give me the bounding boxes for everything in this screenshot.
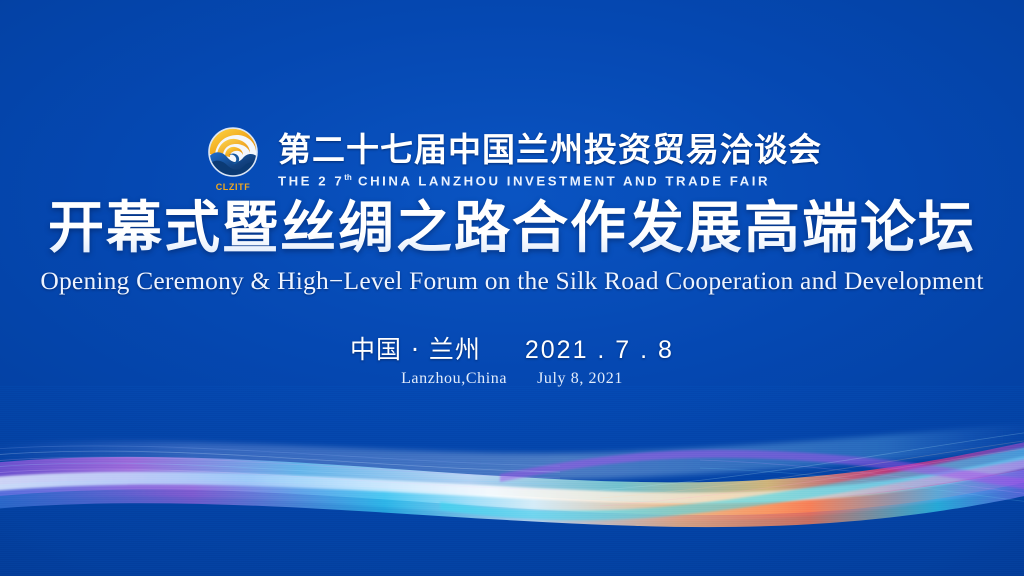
fair-name-cn: 第二十七届中国兰州投资贸易洽谈会 — [278, 132, 822, 168]
emblem-label: CLZITF — [216, 182, 251, 192]
light-ribbon-decoration — [0, 386, 1024, 576]
clzitf-logo-icon: CLZITF — [202, 124, 264, 196]
fair-name-en: THE 2 7th CHINA LANZHOU INVESTMENT AND T… — [278, 173, 770, 188]
poster-stage: CLZITF 第二十七届中国兰州投资贸易洽谈会 THE 2 7th CHINA … — [0, 0, 1024, 576]
main-title-en: Opening Ceremony & High−Level Forum on t… — [0, 266, 1024, 296]
fair-name-block: 第二十七届中国兰州投资贸易洽谈会 THE 2 7th CHINA LANZHOU… — [278, 132, 822, 188]
fair-name-en-ordinal: th — [344, 173, 352, 182]
event-location-cn: 中国 · 兰州 — [350, 330, 481, 366]
event-row-cn: 中国 · 兰州 2021 . 7 . 8 — [350, 330, 674, 366]
main-title-cn: 开幕式暨丝绸之路合作发展高端论坛 — [0, 198, 1024, 260]
fair-name-en-prefix: THE 2 7 — [278, 173, 344, 188]
event-place-date: 中国 · 兰州 2021 . 7 . 8 Lanzhou,China July … — [0, 330, 1024, 388]
fair-name-en-suffix: CHINA LANZHOU INVESTMENT AND TRADE FAIR — [352, 173, 770, 188]
fair-header: CLZITF 第二十七届中国兰州投资贸易洽谈会 THE 2 7th CHINA … — [0, 124, 1024, 196]
event-date-cn: 2021 . 7 . 8 — [525, 336, 674, 365]
